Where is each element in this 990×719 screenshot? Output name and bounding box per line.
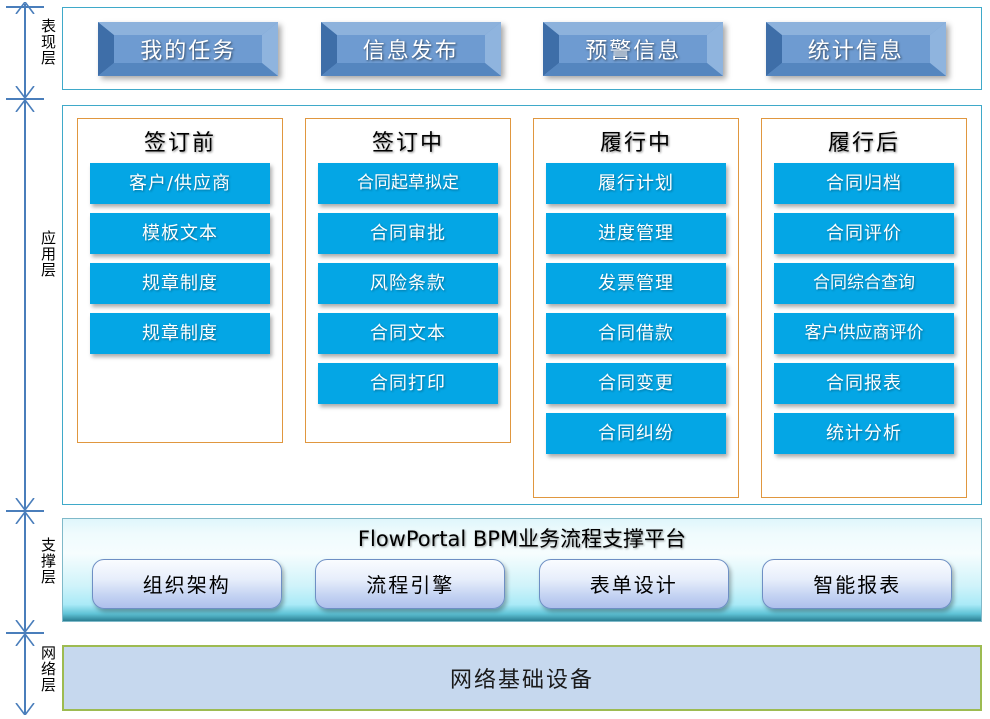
application-item[interactable]: 合同报表 xyxy=(774,363,954,404)
presentation-button-label: 信息发布 xyxy=(321,22,501,76)
presentation-button-my-tasks[interactable]: 我的任务 xyxy=(98,22,278,76)
layer-label-presentation: 表现层 xyxy=(30,18,56,66)
application-item[interactable]: 合同起草拟定 xyxy=(318,163,498,204)
axis-arrow-up-j2 xyxy=(13,512,37,524)
column-item-list: 履行计划 进度管理 发票管理 合同借款 合同变更 合同纠纷 xyxy=(546,163,726,454)
presentation-button-label: 预警信息 xyxy=(543,22,723,76)
application-item[interactable]: 履行计划 xyxy=(546,163,726,204)
layer-label-network: 网络层 xyxy=(30,645,56,693)
support-button-smart-report[interactable]: 智能报表 xyxy=(762,559,952,609)
layer-axis-rail: 表现层 应用层 支撑层 网络层 xyxy=(0,0,56,719)
layer-label-application: 应用层 xyxy=(30,230,56,278)
architecture-diagram: 表现层 应用层 支撑层 网络层 我的任务 xyxy=(0,0,990,719)
application-item[interactable]: 合同综合查询 xyxy=(774,263,954,304)
column-title: 履行后 xyxy=(774,125,954,163)
axis-arrow-down-j1 xyxy=(13,86,37,98)
support-button-form-design[interactable]: 表单设计 xyxy=(539,559,729,609)
support-button-row: 组织架构 流程引擎 表单设计 智能报表 xyxy=(63,557,981,609)
application-item[interactable]: 发票管理 xyxy=(546,263,726,304)
application-item[interactable]: 统计分析 xyxy=(774,413,954,454)
application-item[interactable]: 客户/供应商 xyxy=(90,163,270,204)
axis-arrow-down-bottom xyxy=(13,703,37,715)
application-item[interactable]: 合同打印 xyxy=(318,363,498,404)
presentation-button-statistics-info[interactable]: 统计信息 xyxy=(766,22,946,76)
application-item[interactable]: 客户供应商评价 xyxy=(774,313,954,354)
application-column-in-performance: 履行中 履行计划 进度管理 发票管理 合同借款 合同变更 合同纠纷 xyxy=(533,118,739,498)
support-button-org-structure[interactable]: 组织架构 xyxy=(92,559,282,609)
application-column-in-signing: 签订中 合同起草拟定 合同审批 风险条款 合同文本 合同打印 xyxy=(305,118,511,443)
column-item-list: 客户/供应商 模板文本 规章制度 规章制度 xyxy=(90,163,270,354)
column-item-list: 合同起草拟定 合同审批 风险条款 合同文本 合同打印 xyxy=(318,163,498,404)
axis-arrow-down-j3 xyxy=(13,620,37,632)
application-item[interactable]: 合同纠纷 xyxy=(546,413,726,454)
support-button-process-engine[interactable]: 流程引擎 xyxy=(315,559,505,609)
presentation-button-label: 统计信息 xyxy=(766,22,946,76)
column-title: 签订前 xyxy=(90,125,270,163)
application-item[interactable]: 合同评价 xyxy=(774,213,954,254)
application-item[interactable]: 进度管理 xyxy=(546,213,726,254)
presentation-button-alert-info[interactable]: 预警信息 xyxy=(543,22,723,76)
application-item[interactable]: 合同文本 xyxy=(318,313,498,354)
support-platform-title: FlowPortal BPM业务流程支撑平台 xyxy=(63,519,981,557)
application-item[interactable]: 规章制度 xyxy=(90,263,270,304)
presentation-button-row: 我的任务 信息发布 xyxy=(63,8,981,89)
presentation-button-label: 我的任务 xyxy=(98,22,278,76)
application-column-row: 签订前 客户/供应商 模板文本 规章制度 规章制度 签订中 合同起草拟定 合同审… xyxy=(63,106,981,504)
presentation-layer-panel: 我的任务 信息发布 xyxy=(62,7,982,90)
network-infrastructure-label: 网络基础设备 xyxy=(64,647,980,709)
application-item[interactable]: 模板文本 xyxy=(90,213,270,254)
presentation-button-info-publish[interactable]: 信息发布 xyxy=(321,22,501,76)
application-item[interactable]: 风险条款 xyxy=(318,263,498,304)
application-column-pre-signing: 签订前 客户/供应商 模板文本 规章制度 规章制度 xyxy=(77,118,283,443)
layer-label-support: 支撑层 xyxy=(30,537,56,585)
support-layer-panel: FlowPortal BPM业务流程支撑平台 组织架构 流程引擎 表单设计 智能… xyxy=(62,518,982,622)
axis-arrow-up-j1 xyxy=(13,100,37,112)
network-layer-panel: 网络基础设备 xyxy=(62,645,982,711)
application-item[interactable]: 合同变更 xyxy=(546,363,726,404)
axis-arrow-up-top xyxy=(13,2,37,14)
column-title: 履行中 xyxy=(546,125,726,163)
application-item[interactable]: 合同归档 xyxy=(774,163,954,204)
application-item[interactable]: 规章制度 xyxy=(90,313,270,354)
axis-tick-top xyxy=(6,6,44,8)
column-title: 签订中 xyxy=(318,125,498,163)
column-item-list: 合同归档 合同评价 合同综合查询 客户供应商评价 合同报表 统计分析 xyxy=(774,163,954,454)
application-item[interactable]: 合同借款 xyxy=(546,313,726,354)
application-item[interactable]: 合同审批 xyxy=(318,213,498,254)
application-layer-panel: 签订前 客户/供应商 模板文本 规章制度 规章制度 签订中 合同起草拟定 合同审… xyxy=(62,105,982,505)
application-column-post-performance: 履行后 合同归档 合同评价 合同综合查询 客户供应商评价 合同报表 统计分析 xyxy=(761,118,967,498)
axis-arrow-down-j2 xyxy=(13,498,37,510)
